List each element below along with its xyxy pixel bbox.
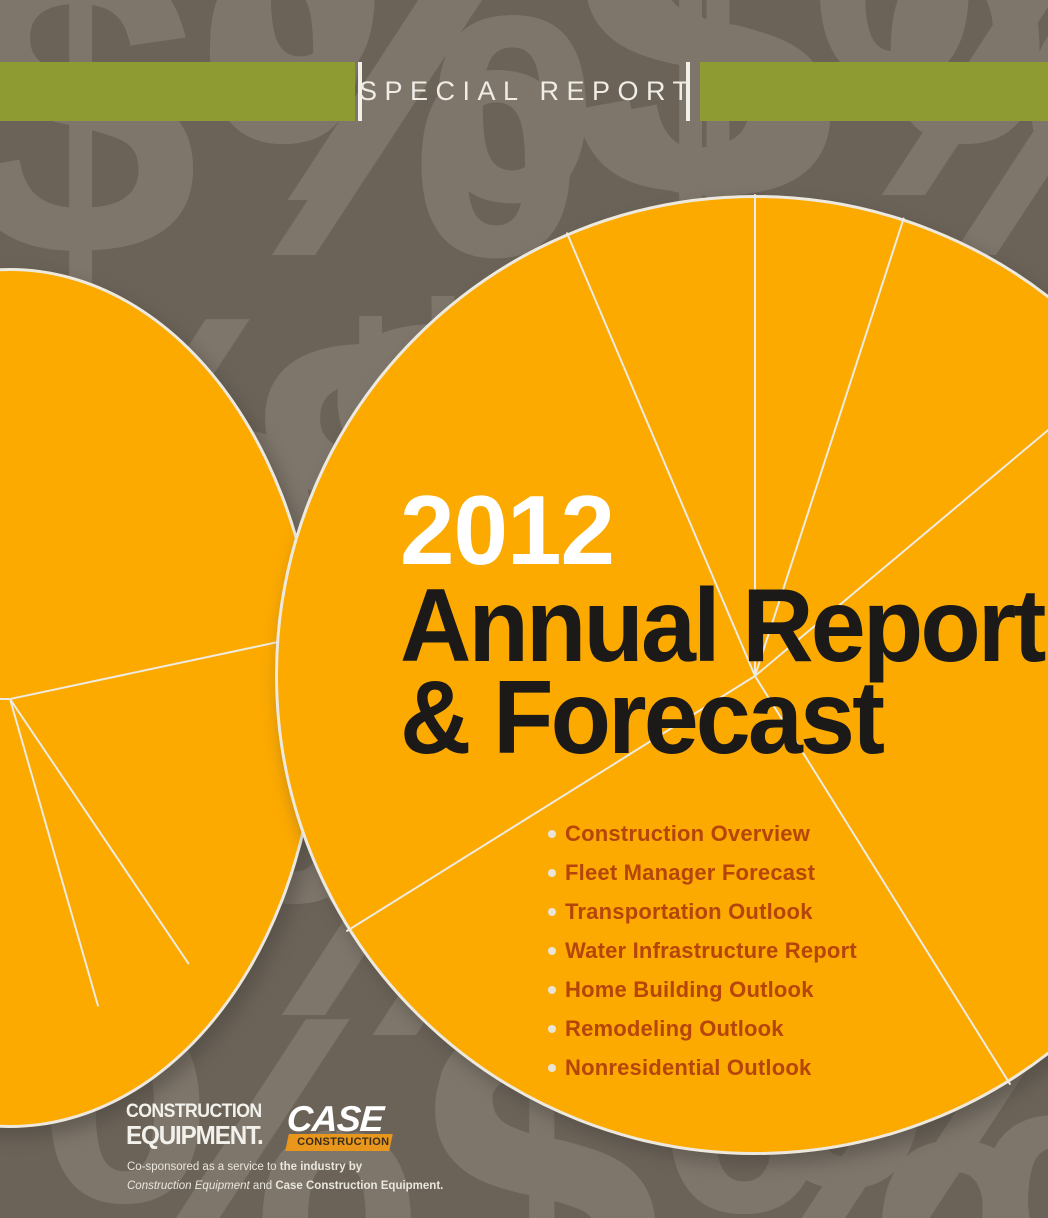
list-item[interactable]: Nonresidential Outlook xyxy=(548,1048,988,1087)
list-item[interactable]: Remodeling Outlook xyxy=(548,1009,988,1048)
contents-list: Construction Overview Fleet Manager Fore… xyxy=(548,814,988,1087)
list-item[interactable]: Home Building Outlook xyxy=(548,970,988,1009)
bullet-icon xyxy=(548,830,556,838)
list-item-label: Remodeling Outlook xyxy=(565,1016,784,1042)
banner-bar-right xyxy=(700,62,1048,121)
sponsor-line2-mid: and xyxy=(250,1180,276,1192)
ce-logo-line1: CONSTRUCTION xyxy=(126,1102,263,1121)
bullet-icon xyxy=(548,947,556,955)
banner-bar-left xyxy=(0,62,355,121)
list-item-label: Nonresidential Outlook xyxy=(565,1055,811,1081)
sponsor-line1-bold: the industry by xyxy=(280,1161,362,1173)
title-block: 2012 Annual Report & Forecast xyxy=(400,485,1010,764)
list-item-label: Water Infrastructure Report xyxy=(565,938,857,964)
bullet-icon xyxy=(548,1025,556,1033)
case-construction-logo: CASE CONSTRUCTION xyxy=(287,1101,405,1151)
bullet-icon xyxy=(548,1064,556,1072)
bullet-icon xyxy=(548,908,556,916)
case-subtitle: CONSTRUCTION xyxy=(297,1136,387,1148)
construction-equipment-logo: CONSTRUCTION EQUIPMENT. xyxy=(126,1101,273,1148)
logo-row: CONSTRUCTION EQUIPMENT. CASE CONSTRUCTIO… xyxy=(126,1101,405,1151)
list-item[interactable]: Transportation Outlook xyxy=(548,892,988,931)
sponsor-line-1: Co-sponsored as a service to the industr… xyxy=(127,1158,443,1177)
case-wordmark: CASE xyxy=(286,1101,407,1137)
sponsor-line2-italic: Construction Equipment xyxy=(127,1180,250,1192)
list-item-label: Construction Overview xyxy=(565,821,810,847)
case-bar: CONSTRUCTION xyxy=(285,1134,393,1151)
list-item[interactable]: Construction Overview xyxy=(548,814,988,853)
list-item[interactable]: Water Infrastructure Report xyxy=(548,931,988,970)
sponsor-line1-plain: Co-sponsored as a service to xyxy=(127,1161,280,1173)
banner-label: SPECIAL REPORT xyxy=(358,62,690,121)
report-cover: $% %$ $% % %$ $% %$ $ $% %$ $% % %$ $% %… xyxy=(0,0,1048,1218)
pie-slice-divider xyxy=(0,698,10,700)
bullet-icon xyxy=(548,869,556,877)
list-item[interactable]: Fleet Manager Forecast xyxy=(548,853,988,892)
sponsor-line-2: Construction Equipment and Case Construc… xyxy=(127,1177,443,1196)
list-item-label: Transportation Outlook xyxy=(565,899,813,925)
list-item-label: Home Building Outlook xyxy=(565,977,814,1003)
sponsor-line2-bold: Case Construction Equipment. xyxy=(275,1180,443,1192)
bullet-icon xyxy=(548,986,556,994)
pie-chart-left xyxy=(0,268,320,1128)
list-item-label: Fleet Manager Forecast xyxy=(565,860,815,886)
page-title-line2: & Forecast xyxy=(400,673,980,765)
page-title-year: 2012 xyxy=(400,485,1010,575)
sponsor-text: Co-sponsored as a service to the industr… xyxy=(127,1158,443,1195)
pie-disc xyxy=(0,268,320,1128)
special-report-banner: SPECIAL REPORT xyxy=(0,62,1048,121)
ce-logo-line2: EQUIPMENT. xyxy=(126,1122,263,1148)
